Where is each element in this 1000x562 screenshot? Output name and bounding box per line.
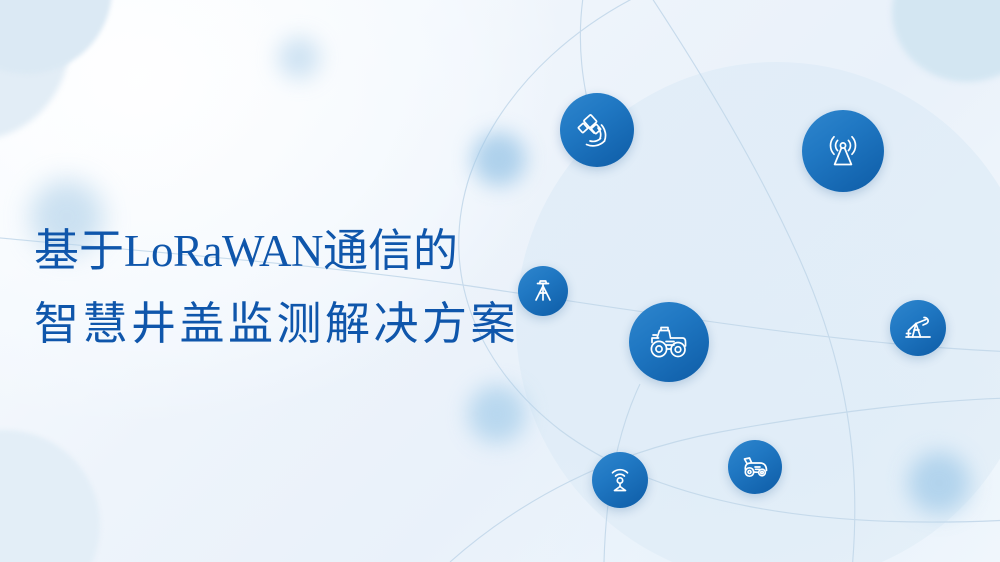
decor-blob-top-right-corner xyxy=(892,0,1000,82)
satellite-icon xyxy=(575,108,619,152)
node-robot-mower[interactable] xyxy=(728,440,782,494)
decor-dot-center xyxy=(472,132,526,186)
title-line-2: 智慧井盖监测解决方案 xyxy=(34,301,519,346)
survey-tripod-icon xyxy=(528,276,558,306)
title-line-1-latin: LoRaWAN xyxy=(124,226,323,276)
slide-title: 基于LoRaWAN通信的 智慧井盖监测解决方案 xyxy=(34,228,519,346)
node-tractor[interactable] xyxy=(629,302,709,382)
node-survey-tripod[interactable] xyxy=(518,266,568,316)
node-satellite[interactable] xyxy=(560,93,634,167)
tractor-icon xyxy=(644,317,694,367)
title-line-1-suffix: 通信的 xyxy=(323,225,458,276)
wireless-sensor-icon xyxy=(603,463,637,497)
title-line-1-prefix: 基于 xyxy=(34,225,124,276)
node-oil-pumpjack[interactable] xyxy=(890,300,946,356)
title-line-1: 基于LoRaWAN通信的 xyxy=(34,228,519,274)
decor-dot-top-middle xyxy=(278,37,320,79)
decor-blob-top-left xyxy=(0,0,112,74)
decor-dot-bottom-right xyxy=(908,452,970,514)
title-slide: 基于LoRaWAN通信的 智慧井盖监测解决方案 xyxy=(0,0,1000,562)
radio-tower-icon xyxy=(819,127,867,175)
decor-dot-lower-middle xyxy=(468,385,526,443)
oil-pumpjack-icon xyxy=(901,311,935,345)
decor-blob-top-left-large xyxy=(0,0,70,140)
node-radio-tower[interactable] xyxy=(802,110,884,192)
robot-mower-icon xyxy=(738,450,772,484)
decor-blob-bottom-left xyxy=(0,430,100,562)
background-wash-top-left xyxy=(0,0,560,420)
background-wash-bottom-right xyxy=(480,182,1000,562)
node-wireless-sensor[interactable] xyxy=(592,452,648,508)
